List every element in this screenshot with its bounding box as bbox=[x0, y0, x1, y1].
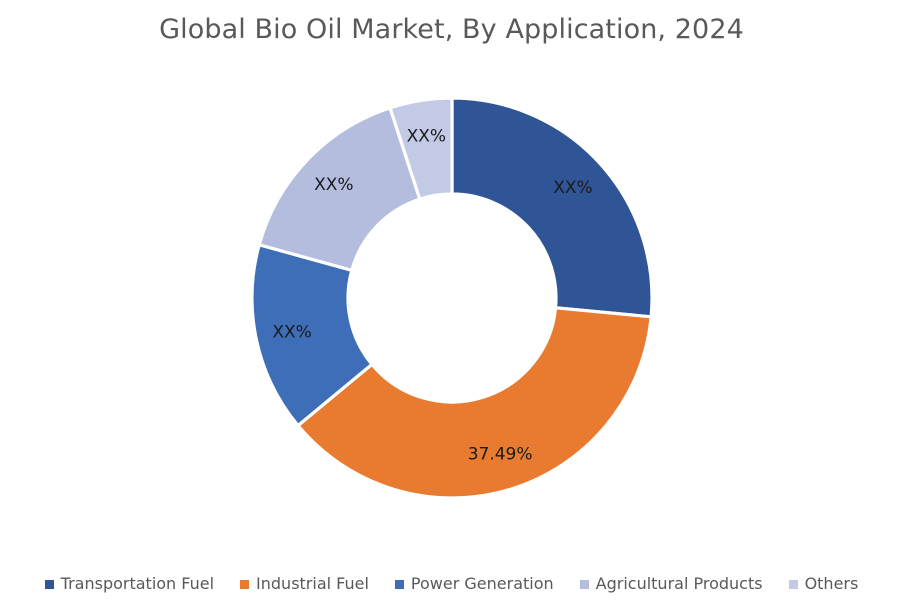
legend-item-others[interactable]: Others bbox=[789, 576, 859, 592]
legend-swatch-icon bbox=[580, 580, 589, 589]
legend-item-transportation-fuel[interactable]: Transportation Fuel bbox=[45, 576, 214, 592]
slice-data-label-others: XX% bbox=[406, 127, 445, 147]
legend-item-label: Industrial Fuel bbox=[256, 576, 369, 592]
legend-swatch-icon bbox=[789, 580, 798, 589]
legend-item-power-generation[interactable]: Power Generation bbox=[395, 576, 554, 592]
donut-slice-transportation-fuel[interactable] bbox=[452, 98, 652, 317]
slice-data-label-industrial-fuel: 37.49% bbox=[467, 444, 532, 464]
legend-swatch-icon bbox=[45, 580, 54, 589]
legend-item-agricultural-products[interactable]: Agricultural Products bbox=[580, 576, 763, 592]
slice-data-label-transportation-fuel: XX% bbox=[553, 178, 592, 198]
donut-chart-svg: XX%37.49%XX%XX%XX% bbox=[212, 70, 692, 540]
legend-item-label: Transportation Fuel bbox=[61, 576, 214, 592]
donut-plot-area: XX%37.49%XX%XX%XX% bbox=[0, 70, 903, 550]
slice-data-label-agricultural-products: XX% bbox=[314, 175, 353, 195]
chart-legend: Transportation FuelIndustrial FuelPower … bbox=[0, 576, 903, 592]
donut-slices-group bbox=[251, 98, 651, 498]
legend-swatch-icon bbox=[240, 580, 249, 589]
donut-chart-figure: Global Bio Oil Market, By Application, 2… bbox=[0, 0, 903, 600]
slice-data-label-power-generation: XX% bbox=[272, 322, 311, 342]
legend-item-label: Others bbox=[805, 576, 859, 592]
legend-item-industrial-fuel[interactable]: Industrial Fuel bbox=[240, 576, 369, 592]
legend-item-label: Power Generation bbox=[411, 576, 554, 592]
chart-title: Global Bio Oil Market, By Application, 2… bbox=[0, 14, 903, 45]
legend-item-label: Agricultural Products bbox=[596, 576, 763, 592]
legend-swatch-icon bbox=[395, 580, 404, 589]
